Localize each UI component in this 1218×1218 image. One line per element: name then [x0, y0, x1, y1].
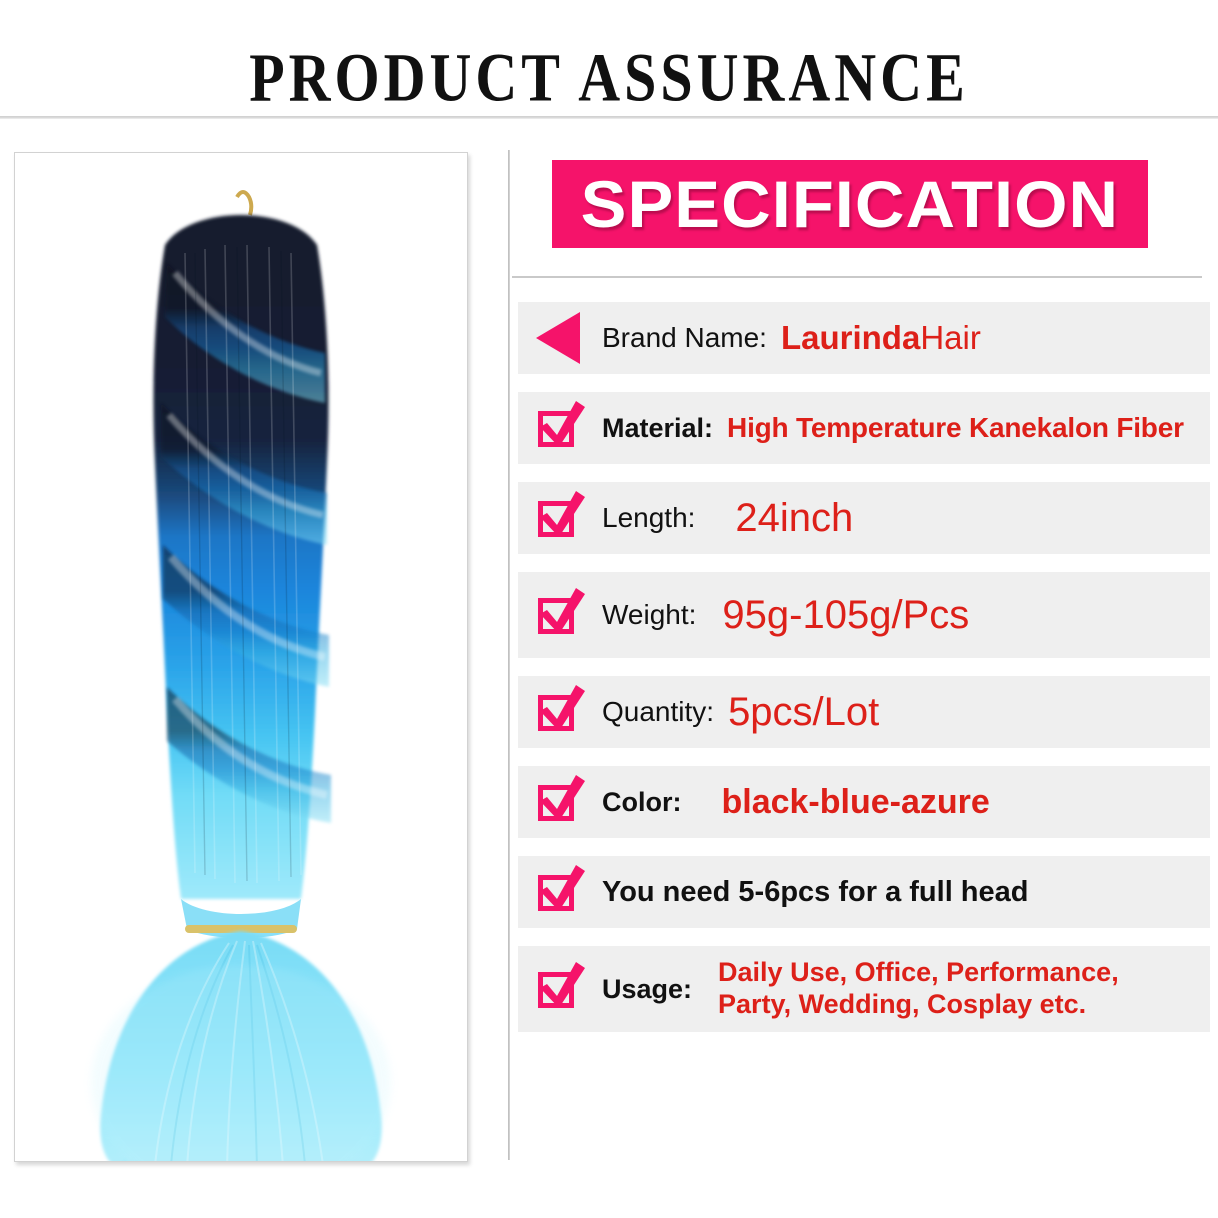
checkbox-checked-icon [538, 592, 584, 638]
marker-cell [534, 495, 602, 541]
row-body: Color: black-blue-azure [602, 783, 1206, 822]
triangle-left-icon [536, 312, 580, 364]
spec-label-length: Length: [602, 502, 695, 534]
checkbox-checked-icon [538, 779, 584, 825]
product-image-panel [14, 152, 468, 1162]
spec-value-material: High Temperature Kanekalon Fiber [727, 412, 1184, 444]
specification-section: SPECIFICATION Brand Name: LaurindaHair [508, 150, 1208, 1162]
spec-value-quantity: 5pcs/Lot [728, 690, 879, 735]
row-body: Quantity: 5pcs/Lot [602, 690, 1206, 735]
spec-value-brand-name: LaurindaHair [781, 319, 981, 357]
spec-label-color: Color: [602, 787, 681, 818]
checkbox-checked-icon [538, 869, 584, 915]
marker-cell [534, 966, 602, 1012]
spec-row-usage: Usage: Daily Use, Office, Performance, P… [518, 946, 1210, 1032]
checkbox-checked-icon [538, 966, 584, 1012]
checkbox-checked-icon [538, 495, 584, 541]
spec-row-weight: Weight: 95g-105g/Pcs [518, 572, 1210, 658]
marker-cell [534, 869, 602, 915]
spec-row-brand-name: Brand Name: LaurindaHair [518, 302, 1210, 374]
specification-banner: SPECIFICATION [552, 160, 1148, 248]
spec-label-brand-name: Brand Name: [602, 322, 767, 354]
spec-row-full-head-note: You need 5-6pcs for a full head [518, 856, 1210, 928]
spec-label-usage: Usage: [602, 974, 692, 1005]
spec-row-quantity: Quantity: 5pcs/Lot [518, 676, 1210, 748]
spec-label-weight: Weight: [602, 599, 696, 631]
marker-cell [534, 689, 602, 735]
spec-label-material: Material: [602, 413, 713, 444]
spec-row-color: Color: black-blue-azure [518, 766, 1210, 838]
marker-cell [534, 779, 602, 825]
page-title: PRODUCT ASSURANCE [0, 38, 1218, 117]
banner-divider [512, 276, 1202, 278]
header-divider [0, 116, 1218, 119]
spec-value-weight: 95g-105g/Pcs [722, 593, 969, 638]
brand-name-regular: Hair [920, 319, 981, 356]
checkbox-checked-icon [538, 405, 584, 451]
row-body: Brand Name: LaurindaHair [602, 319, 1206, 357]
page-header: PRODUCT ASSURANCE [0, 0, 1218, 118]
spec-row-material: Material: High Temperature Kanekalon Fib… [518, 392, 1210, 464]
spec-value-usage: Daily Use, Office, Performance, Party, W… [718, 957, 1119, 1021]
marker-cell [534, 312, 602, 364]
marker-cell [534, 405, 602, 451]
row-body: Weight: 95g-105g/Pcs [602, 593, 1206, 638]
row-body: Usage: Daily Use, Office, Performance, P… [602, 957, 1206, 1021]
usage-line-2: Party, Wedding, Cosplay etc. [718, 989, 1086, 1019]
spec-value-color: black-blue-azure [721, 783, 989, 822]
brand-name-bold: Laurinda [781, 319, 920, 356]
spec-value-length: 24inch [735, 496, 853, 541]
spec-row-length: Length: 24inch [518, 482, 1210, 554]
specification-banner-label: SPECIFICATION [581, 166, 1120, 242]
specification-rows: Brand Name: LaurindaHair Material: High … [518, 302, 1210, 1050]
spec-note-full-head: You need 5-6pcs for a full head [602, 876, 1029, 909]
checkbox-checked-icon [538, 689, 584, 735]
braid-product-image [15, 153, 467, 1161]
spec-label-quantity: Quantity: [602, 696, 714, 728]
row-body: Length: 24inch [602, 496, 1206, 541]
marker-cell [534, 592, 602, 638]
usage-line-1: Daily Use, Office, Performance, [718, 957, 1119, 987]
row-body: You need 5-6pcs for a full head [602, 876, 1206, 909]
row-body: Material: High Temperature Kanekalon Fib… [602, 412, 1206, 444]
